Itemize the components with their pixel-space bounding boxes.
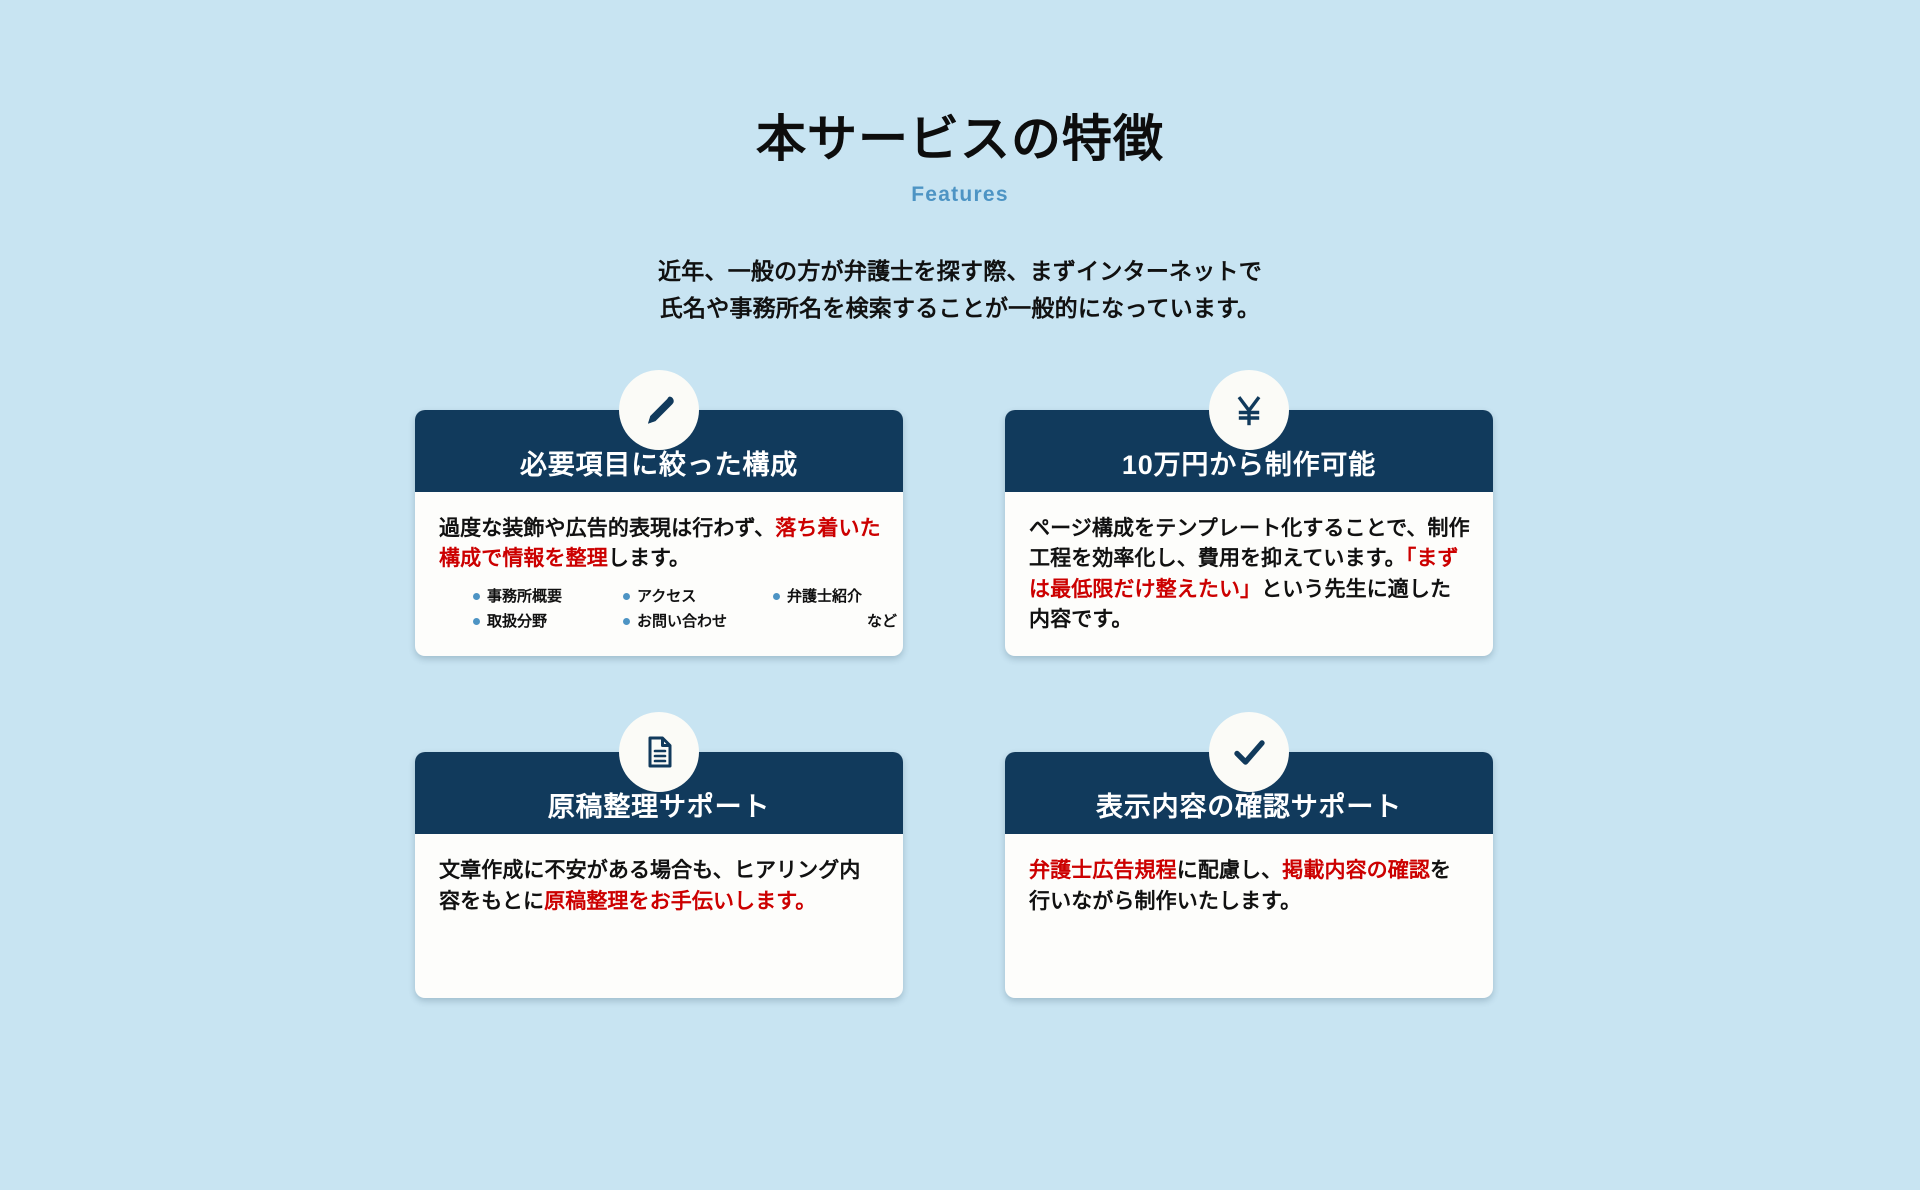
card-description: 文章作成に不安がある場合も、ヒアリング内容をもとに原稿整理をお手伝いします。 bbox=[439, 856, 881, 917]
document-icon bbox=[619, 712, 699, 792]
list-item-label: 事務所概要 bbox=[487, 588, 562, 606]
card-description: 過度な装飾や広告的表現は行わず、落ち着いた構成で情報を整理します。 bbox=[439, 514, 881, 575]
bullet-dot-icon bbox=[473, 593, 480, 600]
section-subtitle: Features bbox=[0, 183, 1920, 207]
list-item: 取扱分野 bbox=[473, 613, 623, 631]
body-text: ページ構成をテンプレート化することで、制作工程を効率化し、費用を抑えています。 bbox=[1029, 517, 1470, 571]
feature-card: 必要項目に絞った構成過度な装飾や広告的表現は行わず、落ち着いた構成で情報を整理し… bbox=[415, 410, 903, 657]
pencil-icon bbox=[619, 370, 699, 450]
card-body: 過度な装飾や広告的表現は行わず、落ち着いた構成で情報を整理します。事務所概要アク… bbox=[415, 492, 903, 657]
feature-card: 原稿整理サポート文章作成に不安がある場合も、ヒアリング内容をもとに原稿整理をお手… bbox=[415, 752, 903, 998]
body-text: に配慮し、 bbox=[1177, 859, 1283, 882]
list-item: 事務所概要 bbox=[473, 588, 623, 606]
card-title: 表示内容の確認サポート bbox=[1096, 794, 1402, 821]
list-item-label: お問い合わせ bbox=[637, 613, 727, 631]
section-header: 本サービスの特徴 Features 近年、一般の方が弁護士を探す際、まずインター… bbox=[0, 0, 1920, 328]
bullet-dot-icon bbox=[773, 593, 780, 600]
body-text: 過度な装飾や広告的表現は行わず、 bbox=[439, 517, 775, 540]
card-description: ページ構成をテンプレート化することで、制作工程を効率化し、費用を抑えています。「… bbox=[1029, 514, 1471, 637]
list-item-label: 取扱分野 bbox=[487, 613, 547, 631]
page-item-list: 事務所概要アクセス弁護士紹介取扱分野お問い合わせなど bbox=[439, 588, 881, 631]
list-item: など bbox=[773, 613, 903, 631]
card-body: 文章作成に不安がある場合も、ヒアリング内容をもとに原稿整理をお手伝いします。 bbox=[415, 834, 903, 998]
card-title: 原稿整理サポート bbox=[548, 794, 770, 821]
yen-icon bbox=[1209, 370, 1289, 450]
list-item: 弁護士紹介 bbox=[773, 588, 903, 606]
card-description: 弁護士広告規程に配慮し、掲載内容の確認を行いながら制作いたします。 bbox=[1029, 856, 1471, 917]
highlighted-text: 掲載内容の確認 bbox=[1282, 859, 1430, 882]
card-body: 弁護士広告規程に配慮し、掲載内容の確認を行いながら制作いたします。 bbox=[1005, 834, 1493, 998]
intro-line-1: 近年、一般の方が弁護士を探す際、まずインターネットで bbox=[658, 258, 1262, 284]
card-body: ページ構成をテンプレート化することで、制作工程を効率化し、費用を抑えています。「… bbox=[1005, 492, 1493, 657]
bullet-dot-icon bbox=[623, 593, 630, 600]
highlighted-text: 弁護士広告規程 bbox=[1029, 859, 1177, 882]
page-title: 本サービスの特徴 bbox=[0, 112, 1920, 167]
feature-card: 10万円から制作可能ページ構成をテンプレート化することで、制作工程を効率化し、費… bbox=[1005, 410, 1493, 657]
body-text: します。 bbox=[608, 547, 690, 570]
list-item: お問い合わせ bbox=[623, 613, 773, 631]
features-page: 本サービスの特徴 Features 近年、一般の方が弁護士を探す際、まずインター… bbox=[0, 0, 1920, 1190]
list-item: アクセス bbox=[623, 588, 773, 606]
bullet-dot-icon bbox=[623, 618, 630, 625]
list-item-label: アクセス bbox=[637, 588, 696, 606]
card-title: 10万円から制作可能 bbox=[1122, 452, 1376, 479]
feature-card-grid: 必要項目に絞った構成過度な装飾や広告的表現は行わず、落ち着いた構成で情報を整理し… bbox=[415, 328, 1505, 999]
bullet-dot-icon bbox=[473, 618, 480, 625]
list-item-label: 弁護士紹介 bbox=[787, 588, 862, 606]
feature-card: 表示内容の確認サポート弁護士広告規程に配慮し、掲載内容の確認を行いながら制作いた… bbox=[1005, 752, 1493, 998]
check-icon bbox=[1209, 712, 1289, 792]
card-title: 必要項目に絞った構成 bbox=[520, 452, 798, 479]
intro-line-2: 氏名や事務所名を検索することが一般的になっています。 bbox=[660, 295, 1261, 321]
highlighted-text: 原稿整理をお手伝いします。 bbox=[544, 890, 816, 913]
intro-paragraph: 近年、一般の方が弁護士を探す際、まずインターネットで 氏名や事務所名を検索するこ… bbox=[0, 253, 1920, 328]
list-item-label: など bbox=[867, 613, 897, 631]
